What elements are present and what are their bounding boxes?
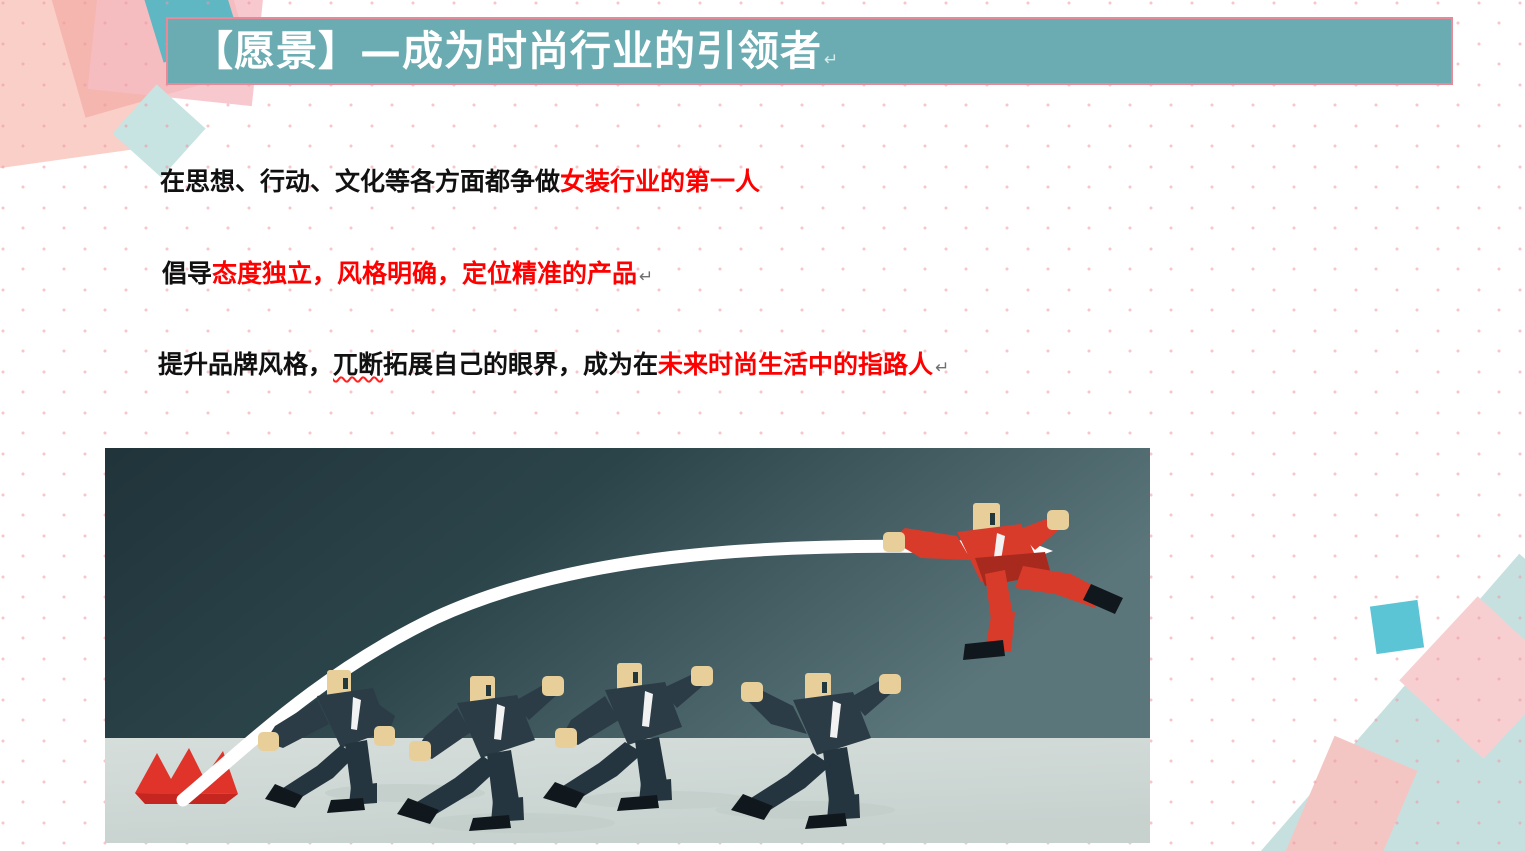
body-line-3-segment-3: 拓展自己的眼界，成为在: [383, 350, 658, 379]
body-line-1-segment-1: 在思想、行动、文化等各方面都争做: [160, 167, 560, 196]
body-text-block: 在思想、行动、文化等各方面都争做女装行业的第一人 倡导态度独立，风格明确，定位精…: [160, 168, 1310, 379]
paragraph-mark-icon: ↵: [639, 267, 653, 287]
slide-canvas: 【愿景】—成为时尚行业的引领者↵ 在思想、行动、文化等各方面都争做女装行业的第一…: [0, 0, 1525, 851]
slide-title-bar: 【愿景】—成为时尚行业的引领者↵: [166, 17, 1453, 85]
body-line-1: 在思想、行动、文化等各方面都争做女装行业的第一人: [160, 168, 1310, 196]
body-line-3-misspelled-word: 兀断: [333, 350, 383, 379]
body-line-1-segment-2: 女装行业的第一人: [560, 167, 760, 196]
body-line-3-segment-4: 未来时尚生活中的指路人: [658, 350, 933, 379]
body-line-3: 提升品牌风格，兀断拓展自己的眼界，成为在未来时尚生活中的指路人↵: [158, 351, 1310, 379]
illustration-businessmen-race: [105, 448, 1150, 843]
body-line-2-segment-2: 态度独立，风格明确，定位精准的产品: [212, 259, 637, 288]
paragraph-mark-icon: ↵: [935, 358, 949, 378]
body-line-2: 倡导态度独立，风格明确，定位精准的产品↵: [162, 260, 1310, 288]
decor-teal-square-solid-bottomright: [1370, 600, 1424, 654]
page-title: 【愿景】—成为时尚行业的引领者↵: [192, 31, 839, 72]
body-line-3-segment-1: 提升品牌风格，: [158, 350, 333, 379]
body-line-2-segment-1: 倡导: [162, 259, 212, 288]
paragraph-mark-icon: ↵: [824, 50, 839, 70]
page-title-text: 【愿景】—成为时尚行业的引领者: [192, 27, 822, 75]
